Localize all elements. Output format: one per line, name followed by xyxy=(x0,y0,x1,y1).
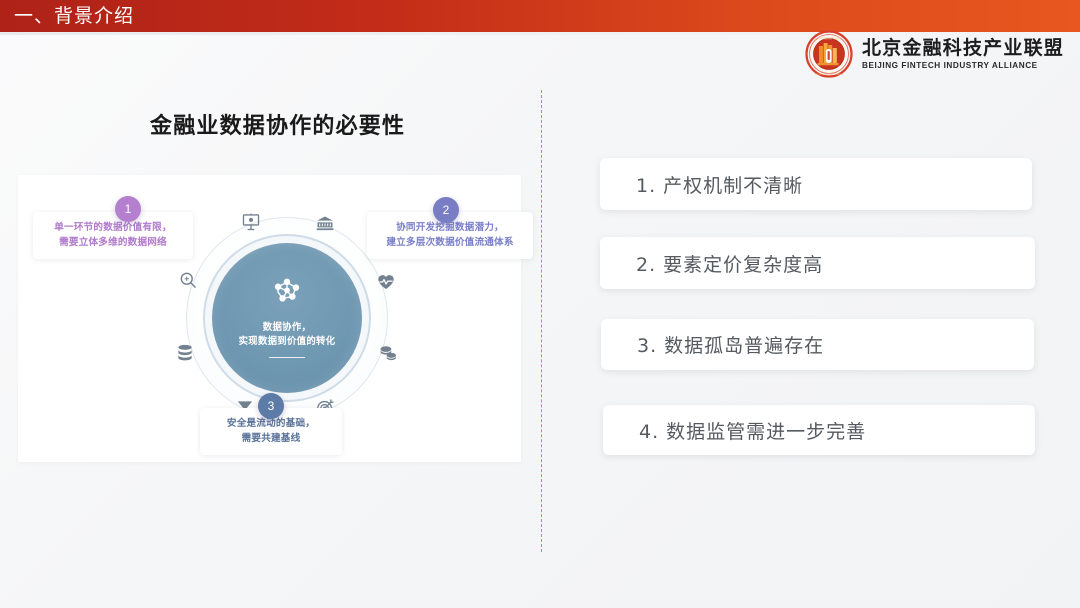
issue-card-1[interactable]: 1. 产权机制不清晰 xyxy=(600,158,1032,210)
callout-card-1: 单一环节的数据价值有限， 需要立体多维的数据网络 xyxy=(33,212,193,259)
presentation-chart-icon xyxy=(240,211,262,233)
alliance-seal-icon: 北京金融科技产业联盟 FINTECH INDUSTRY ALLIANCE xyxy=(805,30,853,78)
svg-text:北京金融科技产业联盟: 北京金融科技产业联盟 xyxy=(817,36,841,40)
page-title: 一、背景介绍 xyxy=(0,7,134,26)
issue-card-2[interactable]: 2. 要素定价复杂度高 xyxy=(600,237,1035,289)
coins-icon xyxy=(377,341,399,363)
logo-name-en: BEIJING FINTECH INDUSTRY ALLIANCE xyxy=(862,61,1064,70)
diagram-panel: 数据协作， 实现数据到价值的转化 单一环节的数据价值有限， 需要立体多维的数据网… xyxy=(18,175,521,462)
callout-badge-3: 3 xyxy=(258,393,284,419)
hub-text-line1: 数据协作， xyxy=(263,321,311,335)
brand-logo: 北京金融科技产业联盟 FINTECH INDUSTRY ALLIANCE 北京金… xyxy=(805,30,1064,78)
section-heading: 金融业数据协作的必要性 xyxy=(150,108,405,140)
callout-badge-2: 2 xyxy=(433,197,459,223)
diagram-hub: 数据协作， 实现数据到价值的转化 xyxy=(212,243,362,393)
logo-name-cn: 北京金融科技产业联盟 xyxy=(862,38,1064,60)
callout-1-line2: 需要立体多维的数据网络 xyxy=(43,236,183,251)
search-magnifier-icon xyxy=(177,269,199,291)
network-nodes-icon xyxy=(265,276,309,315)
column-divider xyxy=(541,90,542,552)
hub-divider xyxy=(269,357,305,359)
callout-badge-1: 1 xyxy=(115,196,141,222)
slide-canvas: 一、背景介绍 xyxy=(0,0,1080,608)
issue-card-3[interactable]: 3. 数据孤岛普遍存在 xyxy=(601,319,1034,370)
bank-building-icon xyxy=(314,213,336,235)
svg-text:FINTECH INDUSTRY ALLIANCE: FINTECH INDUSTRY ALLIANCE xyxy=(815,73,844,76)
collaboration-ring-diagram: 数据协作， 实现数据到价值的转化 xyxy=(186,217,388,419)
callout-3-line2: 需要共建基线 xyxy=(210,432,332,447)
database-icon xyxy=(174,342,196,364)
issue-card-4[interactable]: 4. 数据监管需进一步完善 xyxy=(603,405,1035,455)
header-bar: 一、背景介绍 xyxy=(0,0,1080,32)
callout-3-line1: 安全是流动的基础， xyxy=(210,417,332,432)
heart-pulse-icon xyxy=(375,271,397,293)
callout-2-line1: 协同开发挖掘数据潜力， xyxy=(377,221,523,236)
callout-2-line2: 建立多层次数据价值流通体系 xyxy=(377,236,523,251)
callout-1-line1: 单一环节的数据价值有限， xyxy=(43,221,183,236)
hub-text-line2: 实现数据到价值的转化 xyxy=(239,335,336,349)
logo-text-block: 北京金融科技产业联盟 BEIJING FINTECH INDUSTRY ALLI… xyxy=(862,38,1064,71)
